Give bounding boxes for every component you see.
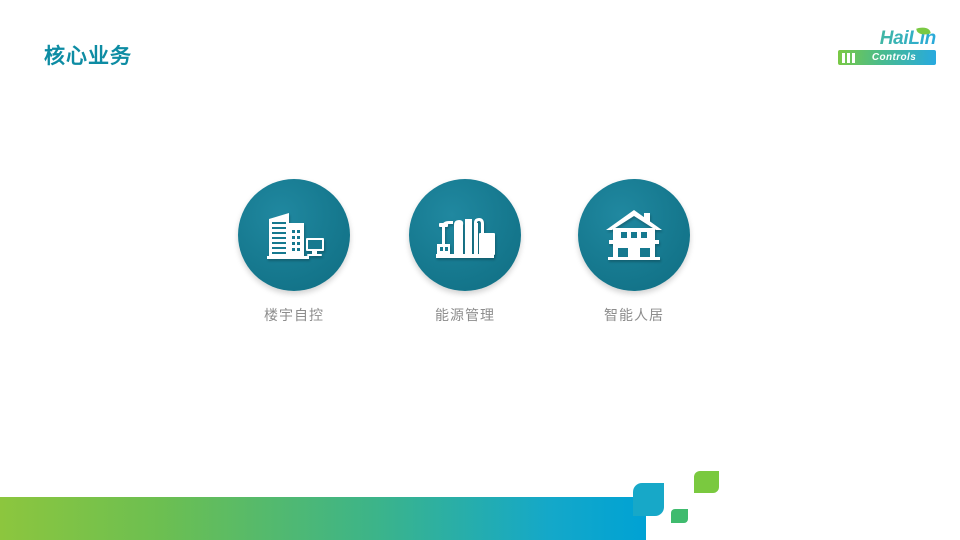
core-business-item-smart-home[interactable]: 智能人居	[578, 179, 690, 325]
industrial-plant-icon	[434, 209, 496, 261]
core-business-item-energy-management[interactable]: 能源管理	[409, 179, 521, 325]
core-business-item-label: 智能人居	[578, 305, 690, 325]
core-business-item-building-automation[interactable]: 楼宇自控	[238, 179, 350, 325]
house-icon	[604, 208, 664, 262]
decoration-block-blue	[633, 483, 664, 516]
icon-circle	[409, 179, 521, 291]
icon-circle	[578, 179, 690, 291]
decoration-block-green-small	[671, 509, 688, 523]
core-business-item-label: 楼宇自控	[238, 305, 350, 325]
icon-circle	[238, 179, 350, 291]
slide-canvas: 核心业务 HaiLin Controls	[0, 0, 960, 540]
core-business-group: 楼宇自控	[0, 0, 960, 540]
office-building-monitor-icon	[263, 209, 325, 261]
decoration-block-green-large	[694, 471, 719, 493]
core-business-item-label: 能源管理	[409, 305, 521, 325]
bottom-gradient-bar	[0, 497, 646, 540]
